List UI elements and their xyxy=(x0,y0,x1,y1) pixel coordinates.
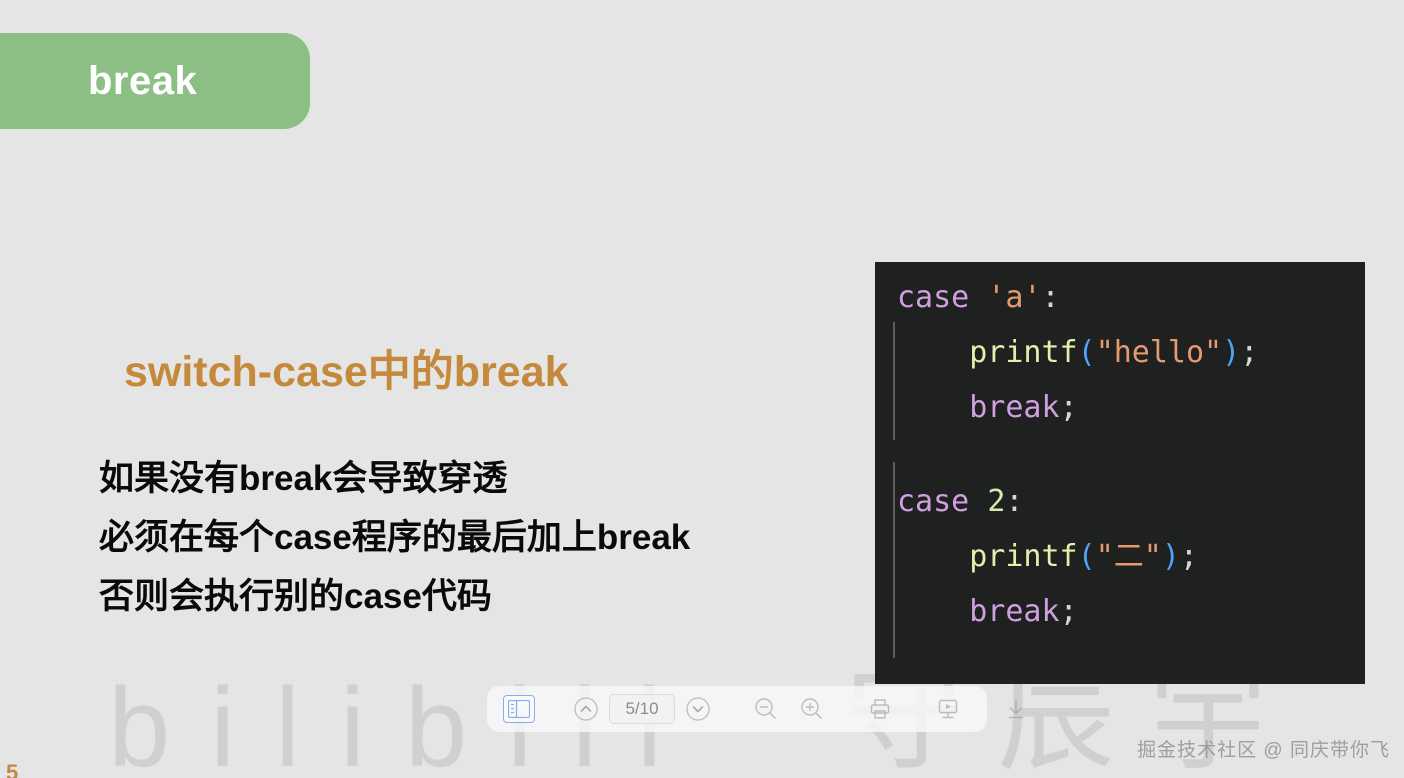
code-token-plain xyxy=(969,484,987,519)
code-line: case 'a': xyxy=(875,270,1365,325)
body-line-1: 如果没有break会导致穿透 xyxy=(99,449,690,508)
code-line: break; xyxy=(875,584,1365,639)
chevron-down-icon[interactable] xyxy=(681,692,715,726)
print-icon[interactable] xyxy=(863,692,897,726)
presentation-icon[interactable] xyxy=(931,692,965,726)
code-token-keyword: case xyxy=(897,484,969,519)
code-token-plain xyxy=(897,335,969,370)
code-token-string: "二" xyxy=(1096,539,1162,574)
code-token-paren: ( xyxy=(1078,539,1096,574)
zoom-in-icon[interactable] xyxy=(795,692,829,726)
code-token-plain xyxy=(897,539,969,574)
code-token-paren: ) xyxy=(1222,335,1240,370)
code-token-keyword: break xyxy=(969,594,1059,629)
page-title: switch-case中的break xyxy=(124,348,569,397)
banner-label: break xyxy=(88,61,197,101)
indent-guide xyxy=(893,462,895,658)
body-line-3: 否则会执行别的case代码 xyxy=(99,567,690,626)
code-token-number: 2 xyxy=(987,484,1005,519)
code-token-keyword: case xyxy=(897,280,969,315)
code-block-case-a: case 'a': printf("hello"); break; xyxy=(875,262,1365,460)
indent-guide xyxy=(893,322,895,440)
code-token-punct: ; xyxy=(1180,539,1198,574)
code-token-char: 'a' xyxy=(987,280,1041,315)
body-text: 如果没有break会导致穿透 必须在每个case程序的最后加上break 否则会… xyxy=(99,449,690,626)
download-icon[interactable] xyxy=(999,692,1033,726)
slide-page-number: 5 xyxy=(6,762,18,778)
code-token-punct: : xyxy=(1005,484,1023,519)
zoom-out-icon[interactable] xyxy=(749,692,783,726)
slide-title-banner: break xyxy=(0,33,310,129)
code-line: break; xyxy=(875,380,1365,435)
slide-canvas: bilibili 守辰宇 break switch-case中的break 如果… xyxy=(0,0,1404,778)
code-token-keyword: break xyxy=(969,390,1059,425)
credit-watermark: 掘金技术社区 @ 同庆带你飞 xyxy=(1137,735,1390,762)
code-token-punct: ; xyxy=(1060,594,1078,629)
code-line: printf("hello"); xyxy=(875,325,1365,380)
code-token-function: printf xyxy=(969,539,1077,574)
code-token-punct: ; xyxy=(1240,335,1258,370)
body-line-2: 必须在每个case程序的最后加上break xyxy=(99,508,690,567)
page-number-input[interactable]: 5/10 xyxy=(609,694,675,724)
code-token-punct: : xyxy=(1042,280,1060,315)
code-line: printf("二"); xyxy=(875,529,1365,584)
code-token-plain xyxy=(897,390,969,425)
chevron-up-icon[interactable] xyxy=(569,692,603,726)
code-token-plain xyxy=(897,594,969,629)
code-token-paren: ) xyxy=(1162,539,1180,574)
code-token-paren: ( xyxy=(1078,335,1096,370)
sidebar-toggle-icon[interactable] xyxy=(503,695,535,723)
code-line: case 2: xyxy=(875,474,1365,529)
code-block-case-2: case 2: printf("二"); break; xyxy=(875,458,1365,684)
code-token-plain xyxy=(969,280,987,315)
code-token-string: "hello" xyxy=(1096,335,1222,370)
pdf-toolbar: 5/10 xyxy=(487,686,987,732)
code-token-punct: ; xyxy=(1060,390,1078,425)
code-token-function: printf xyxy=(969,335,1077,370)
